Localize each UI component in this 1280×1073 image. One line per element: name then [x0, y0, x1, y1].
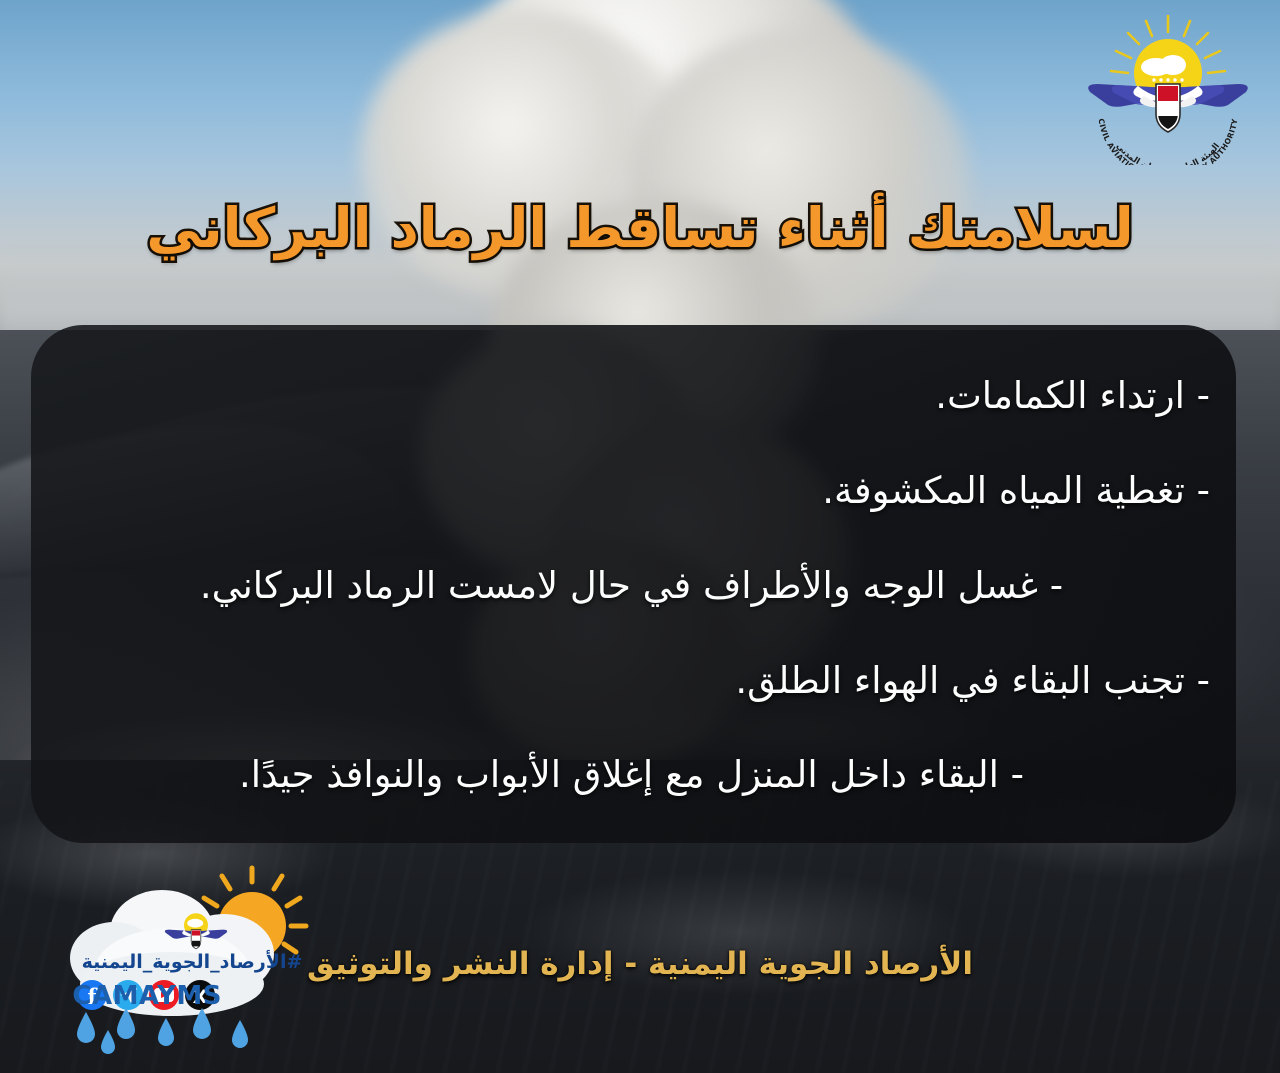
safety-tips-list: - ارتداء الكمامات. - تغطية المياه المكشو…: [31, 325, 1236, 843]
list-item: - تجنب البقاء في الهواء الطلق.: [53, 660, 1210, 703]
bullet-text: تجنب البقاء في الهواء الطلق.: [735, 659, 1185, 702]
bullet-marker: -: [1197, 374, 1210, 417]
bullet-text: تغطية المياه المكشوفة.: [822, 469, 1185, 512]
bullet-text: البقاء داخل المنزل مع إغلاق الأبواب والن…: [239, 753, 999, 796]
bullet-marker: -: [1050, 564, 1063, 607]
bullet-text: غسل الوجه والأطراف في حال لامست الرماد ا…: [200, 564, 1038, 607]
list-item: - البقاء داخل المنزل مع إغلاق الأبواب وا…: [53, 754, 1210, 797]
list-item: - غسل الوجه والأطراف في حال لامست الرماد…: [53, 565, 1210, 608]
social-media-cloud-badge: #الأرصاد_الجوية_اليمنية f: [52, 862, 332, 1067]
bullet-text: ارتداء الكمامات.: [935, 374, 1185, 417]
civil-aviation-meteorology-authority-logo: الهيئة العامة للطيران المدني CIVIL AVIAT…: [1078, 10, 1258, 165]
bullet-marker: -: [1197, 659, 1210, 702]
shield-icon: [1156, 84, 1180, 132]
poster-canvas: الهيئة العامة للطيران المدني CIVIL AVIAT…: [0, 0, 1280, 1073]
badge-handle: CAMAYMS: [72, 981, 222, 1011]
list-item: - ارتداء الكمامات.: [53, 375, 1210, 418]
badge-hashtag: #الأرصاد_الجوية_اليمنية: [82, 950, 303, 973]
bullet-marker: -: [1011, 753, 1024, 796]
list-item: - تغطية المياه المكشوفة.: [53, 470, 1210, 513]
poster-title: لسلامتك أثناء تساقط الرماد البركاني: [0, 196, 1280, 260]
bullet-marker: -: [1197, 469, 1210, 512]
